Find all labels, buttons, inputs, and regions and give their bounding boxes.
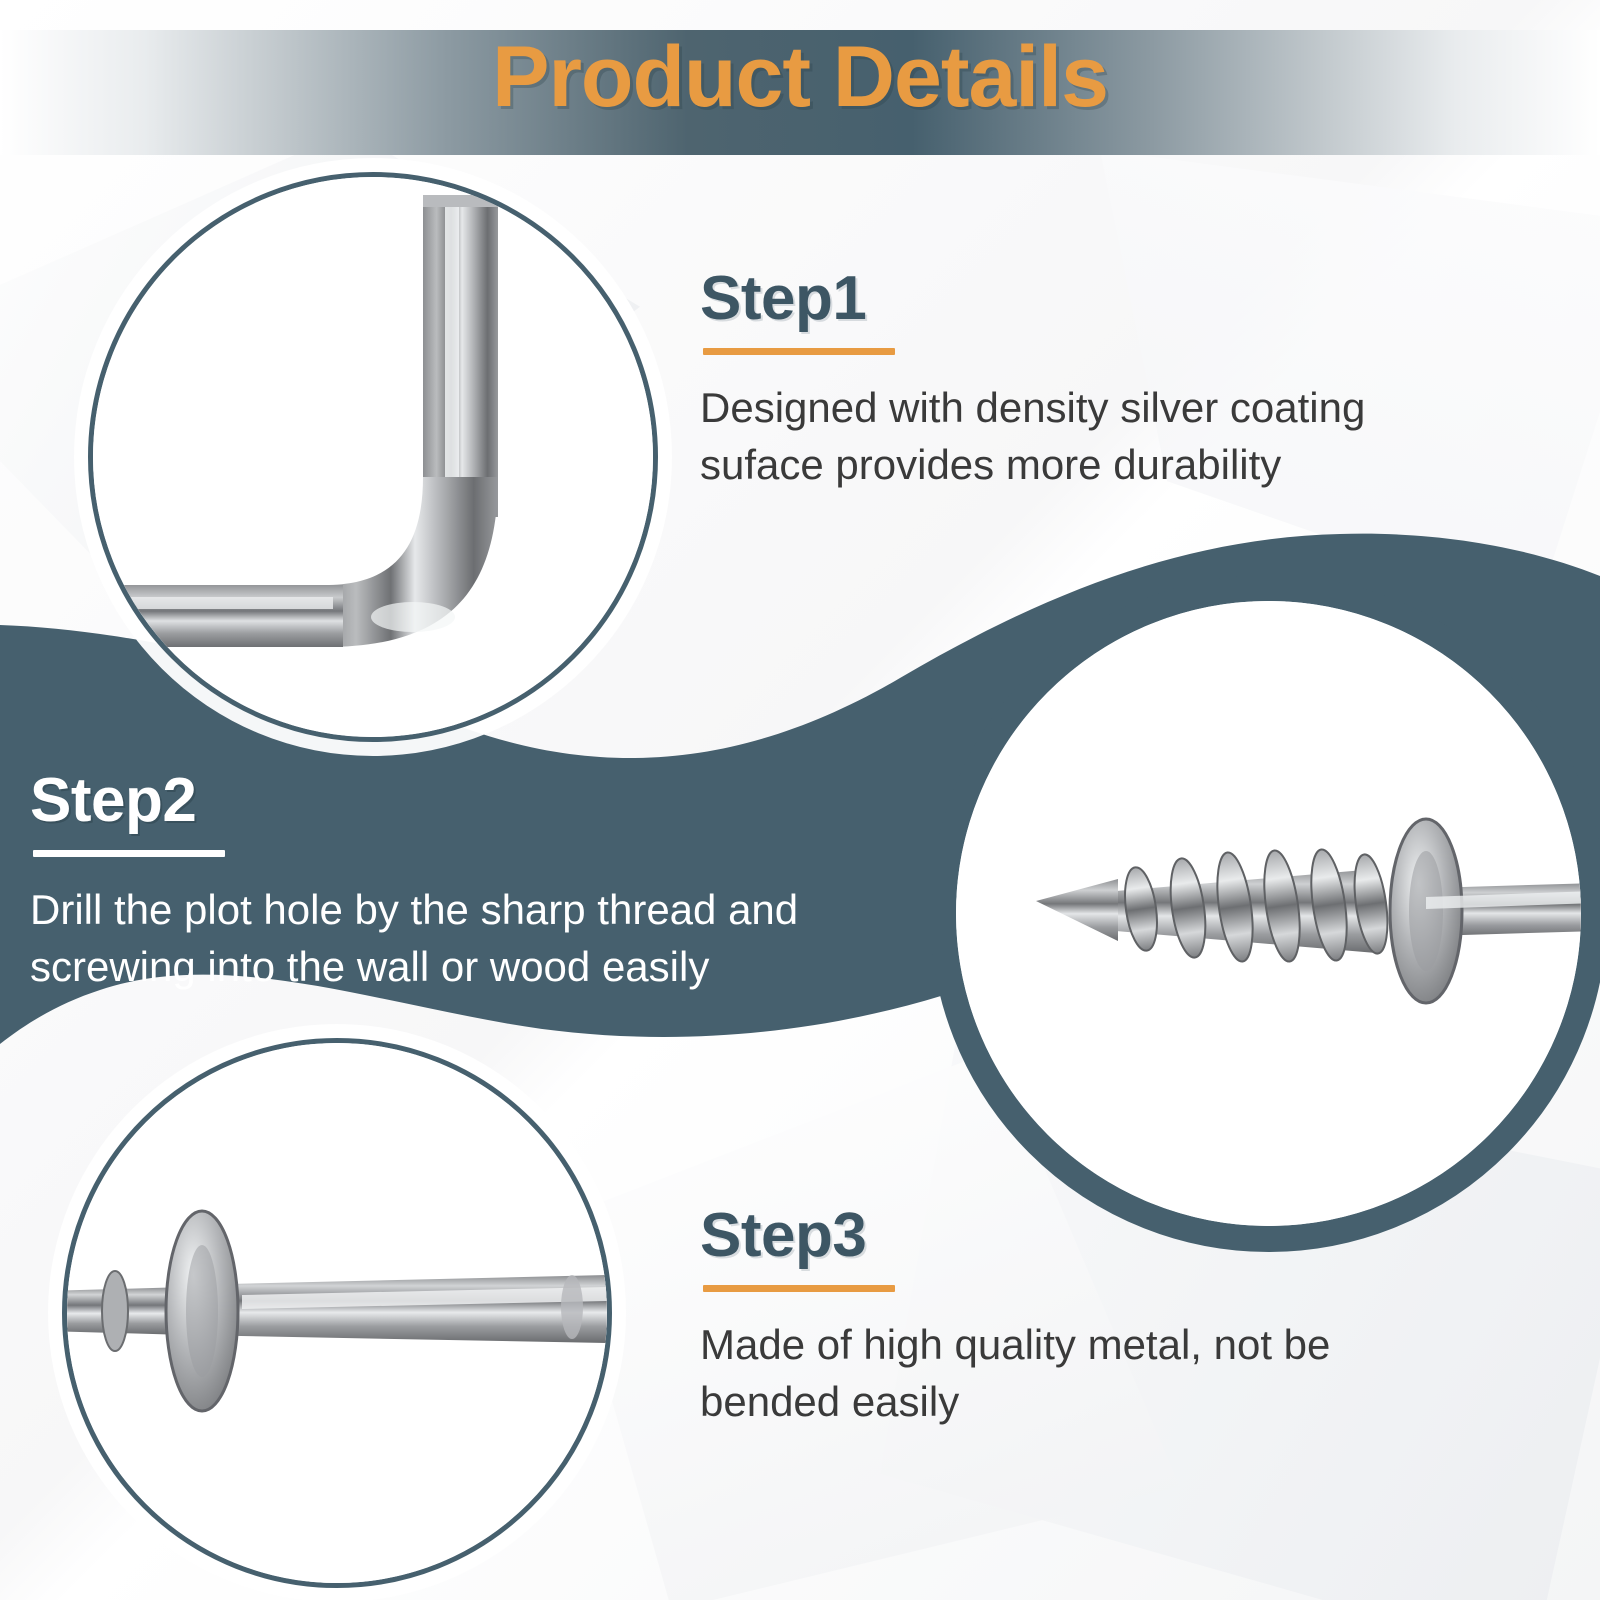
- step-2-underline: [33, 850, 225, 857]
- screw-thread-photo: [956, 601, 1581, 1226]
- screw-shaft-photo: [67, 1043, 607, 1583]
- screw-thread-photo-circle: [930, 575, 1600, 1252]
- step-2-heading: Step2: [30, 770, 910, 832]
- step-3-body: Made of high quality metal, not be bende…: [700, 1316, 1450, 1430]
- hook-bend-photo-circle: [88, 172, 658, 742]
- step-2-body: Drill the plot hole by the sharp thread …: [30, 881, 910, 995]
- product-details-infographic: Product Details: [0, 0, 1600, 1600]
- screw-shaft-photo-circle: [62, 1038, 612, 1588]
- step-3-block: Step3 Made of high quality metal, not be…: [700, 1205, 1450, 1430]
- step-2-block: Step2 Drill the plot hole by the sharp t…: [30, 770, 910, 995]
- step-3-heading: Step3: [700, 1205, 1450, 1267]
- step-1-body: Designed with density silver coating suf…: [700, 379, 1470, 493]
- page-title: Product Details: [0, 28, 1600, 127]
- step-1-block: Step1 Designed with density silver coati…: [700, 268, 1470, 493]
- hook-bend-photo: [93, 177, 653, 737]
- step-1-heading: Step1: [700, 268, 1470, 330]
- step-3-underline: [703, 1285, 895, 1292]
- step-1-underline: [703, 348, 895, 355]
